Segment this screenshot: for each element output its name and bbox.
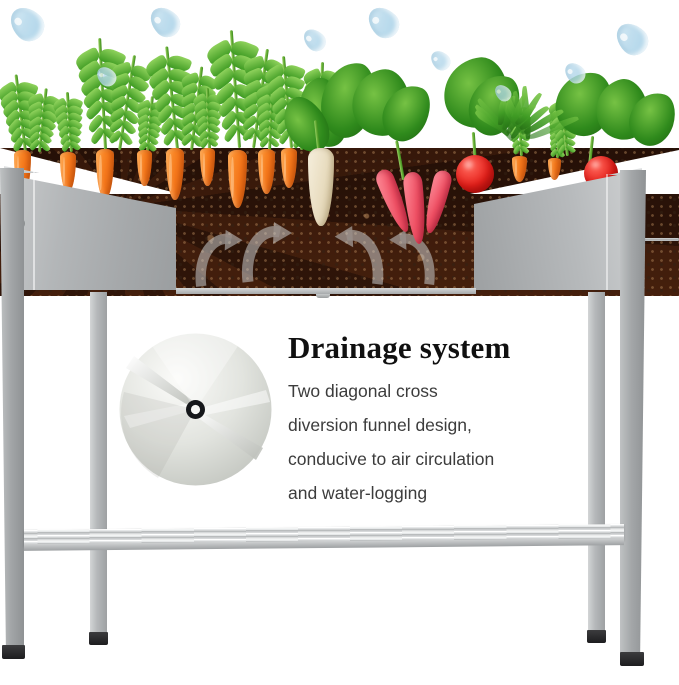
drop-5-icon (362, 1, 404, 43)
product-image: Drainage system Two diagonal crossdivers… (0, 0, 679, 685)
red-radish-1 (456, 155, 494, 193)
foot-cap-left-back (2, 645, 25, 659)
carrot-frond (118, 55, 135, 150)
feature-description-line-1: Two diagonal cross (288, 374, 438, 408)
leg-right-back (620, 170, 646, 665)
leg-right-front (588, 292, 605, 640)
carrot-frond (165, 46, 178, 150)
carrot-frond (66, 92, 72, 152)
drop-6-icon (427, 47, 454, 74)
carrot-frond (230, 30, 240, 148)
flow-arrow-1-icon (193, 228, 247, 290)
drainage-disc-illustration (118, 332, 273, 487)
leg-left-front (90, 292, 107, 642)
carrot-frond (15, 74, 26, 152)
foot-cap-right-front (587, 630, 606, 643)
planter-drain-port (316, 294, 330, 298)
drainage-disc-icon (118, 332, 273, 487)
flow-arrow-4-icon (385, 228, 437, 288)
feature-description-line-4: and water-logging (288, 476, 427, 510)
foot-cap-right-back (620, 652, 644, 666)
carrot-frond (38, 88, 47, 152)
drop-4-icon (299, 25, 329, 55)
carrot-frond (98, 38, 106, 150)
flow-arrow-3-icon (330, 224, 386, 288)
flow-arrow-2-icon (240, 220, 296, 286)
feature-description-line-3: conducive to air circulation (288, 442, 494, 476)
leg-left-back (0, 168, 24, 656)
drop-3-icon (144, 1, 185, 42)
drop-1-icon (4, 1, 51, 48)
feature-description-line-2: diversion funnel design, (288, 408, 472, 442)
right-panel-seam (606, 174, 608, 290)
drop-8-icon (610, 17, 654, 61)
feature-heading: Drainage system (288, 330, 511, 366)
drainage-control-rod[interactable] (640, 238, 679, 241)
foot-cap-left-front (89, 632, 108, 645)
left-panel-seam (33, 171, 35, 290)
carrot-frond (146, 96, 153, 152)
carrot-frond (206, 88, 210, 150)
